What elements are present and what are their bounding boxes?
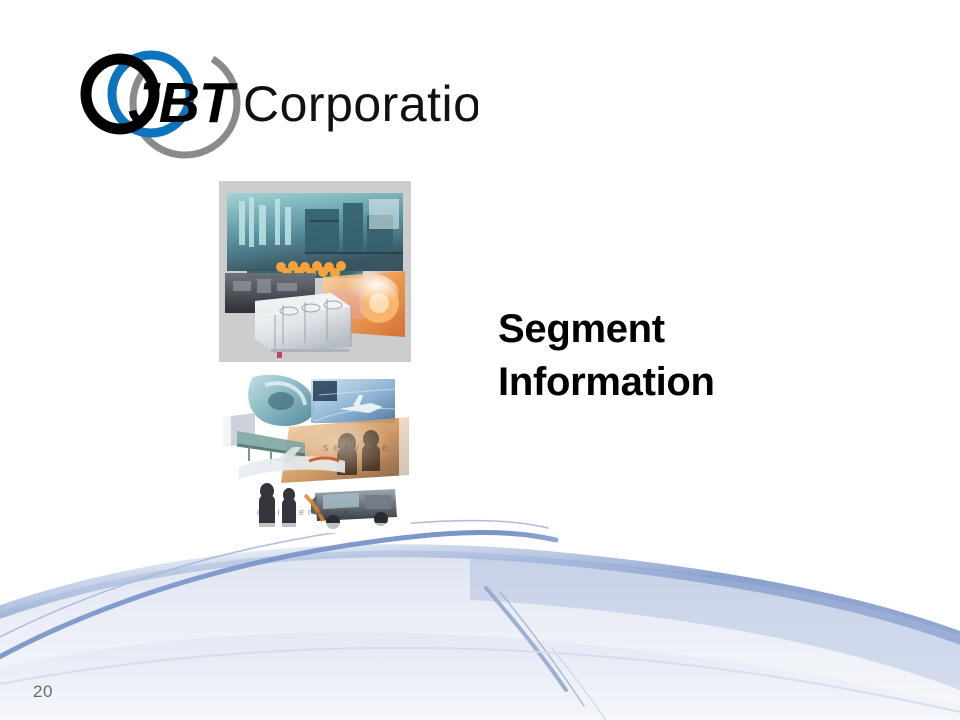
logo-wordmark: JBT Corporation: [128, 70, 478, 136]
swoosh-right-wash: [470, 556, 960, 690]
swoosh-arc-thick: [0, 533, 556, 662]
aero-technology-collage: service maintenance: [219, 365, 411, 533]
swoosh-inner-contour: [0, 648, 960, 712]
swoosh-body-fill: [0, 551, 960, 720]
swoosh-tail-arc-2: [500, 592, 584, 706]
food-technology-collage: [219, 181, 411, 362]
page-title: Segment Information: [498, 303, 918, 409]
logo-wordmark-jbt: JBT: [128, 71, 238, 135]
page-title-line-1: Segment: [498, 303, 918, 356]
swoosh-tail-arc-3: [552, 648, 606, 720]
logo-wordmark-corporation: Corporation: [243, 76, 478, 132]
swoosh-blue-edge: [0, 551, 960, 638]
aerotech-overlay-text-maintenance: maintenance: [257, 507, 353, 517]
swoosh-secondary-fill: [0, 632, 960, 720]
page-title-line-2: Information: [498, 356, 918, 409]
page-number: 20: [33, 682, 53, 702]
slide-canvas: JBT Corporation: [0, 0, 960, 720]
aerotech-overlay-text-service: service: [323, 442, 393, 454]
jbt-corporation-logo: JBT Corporation: [73, 42, 477, 164]
swoosh-arc-thin: [0, 521, 548, 642]
swoosh-tail-arc-1: [486, 588, 566, 690]
